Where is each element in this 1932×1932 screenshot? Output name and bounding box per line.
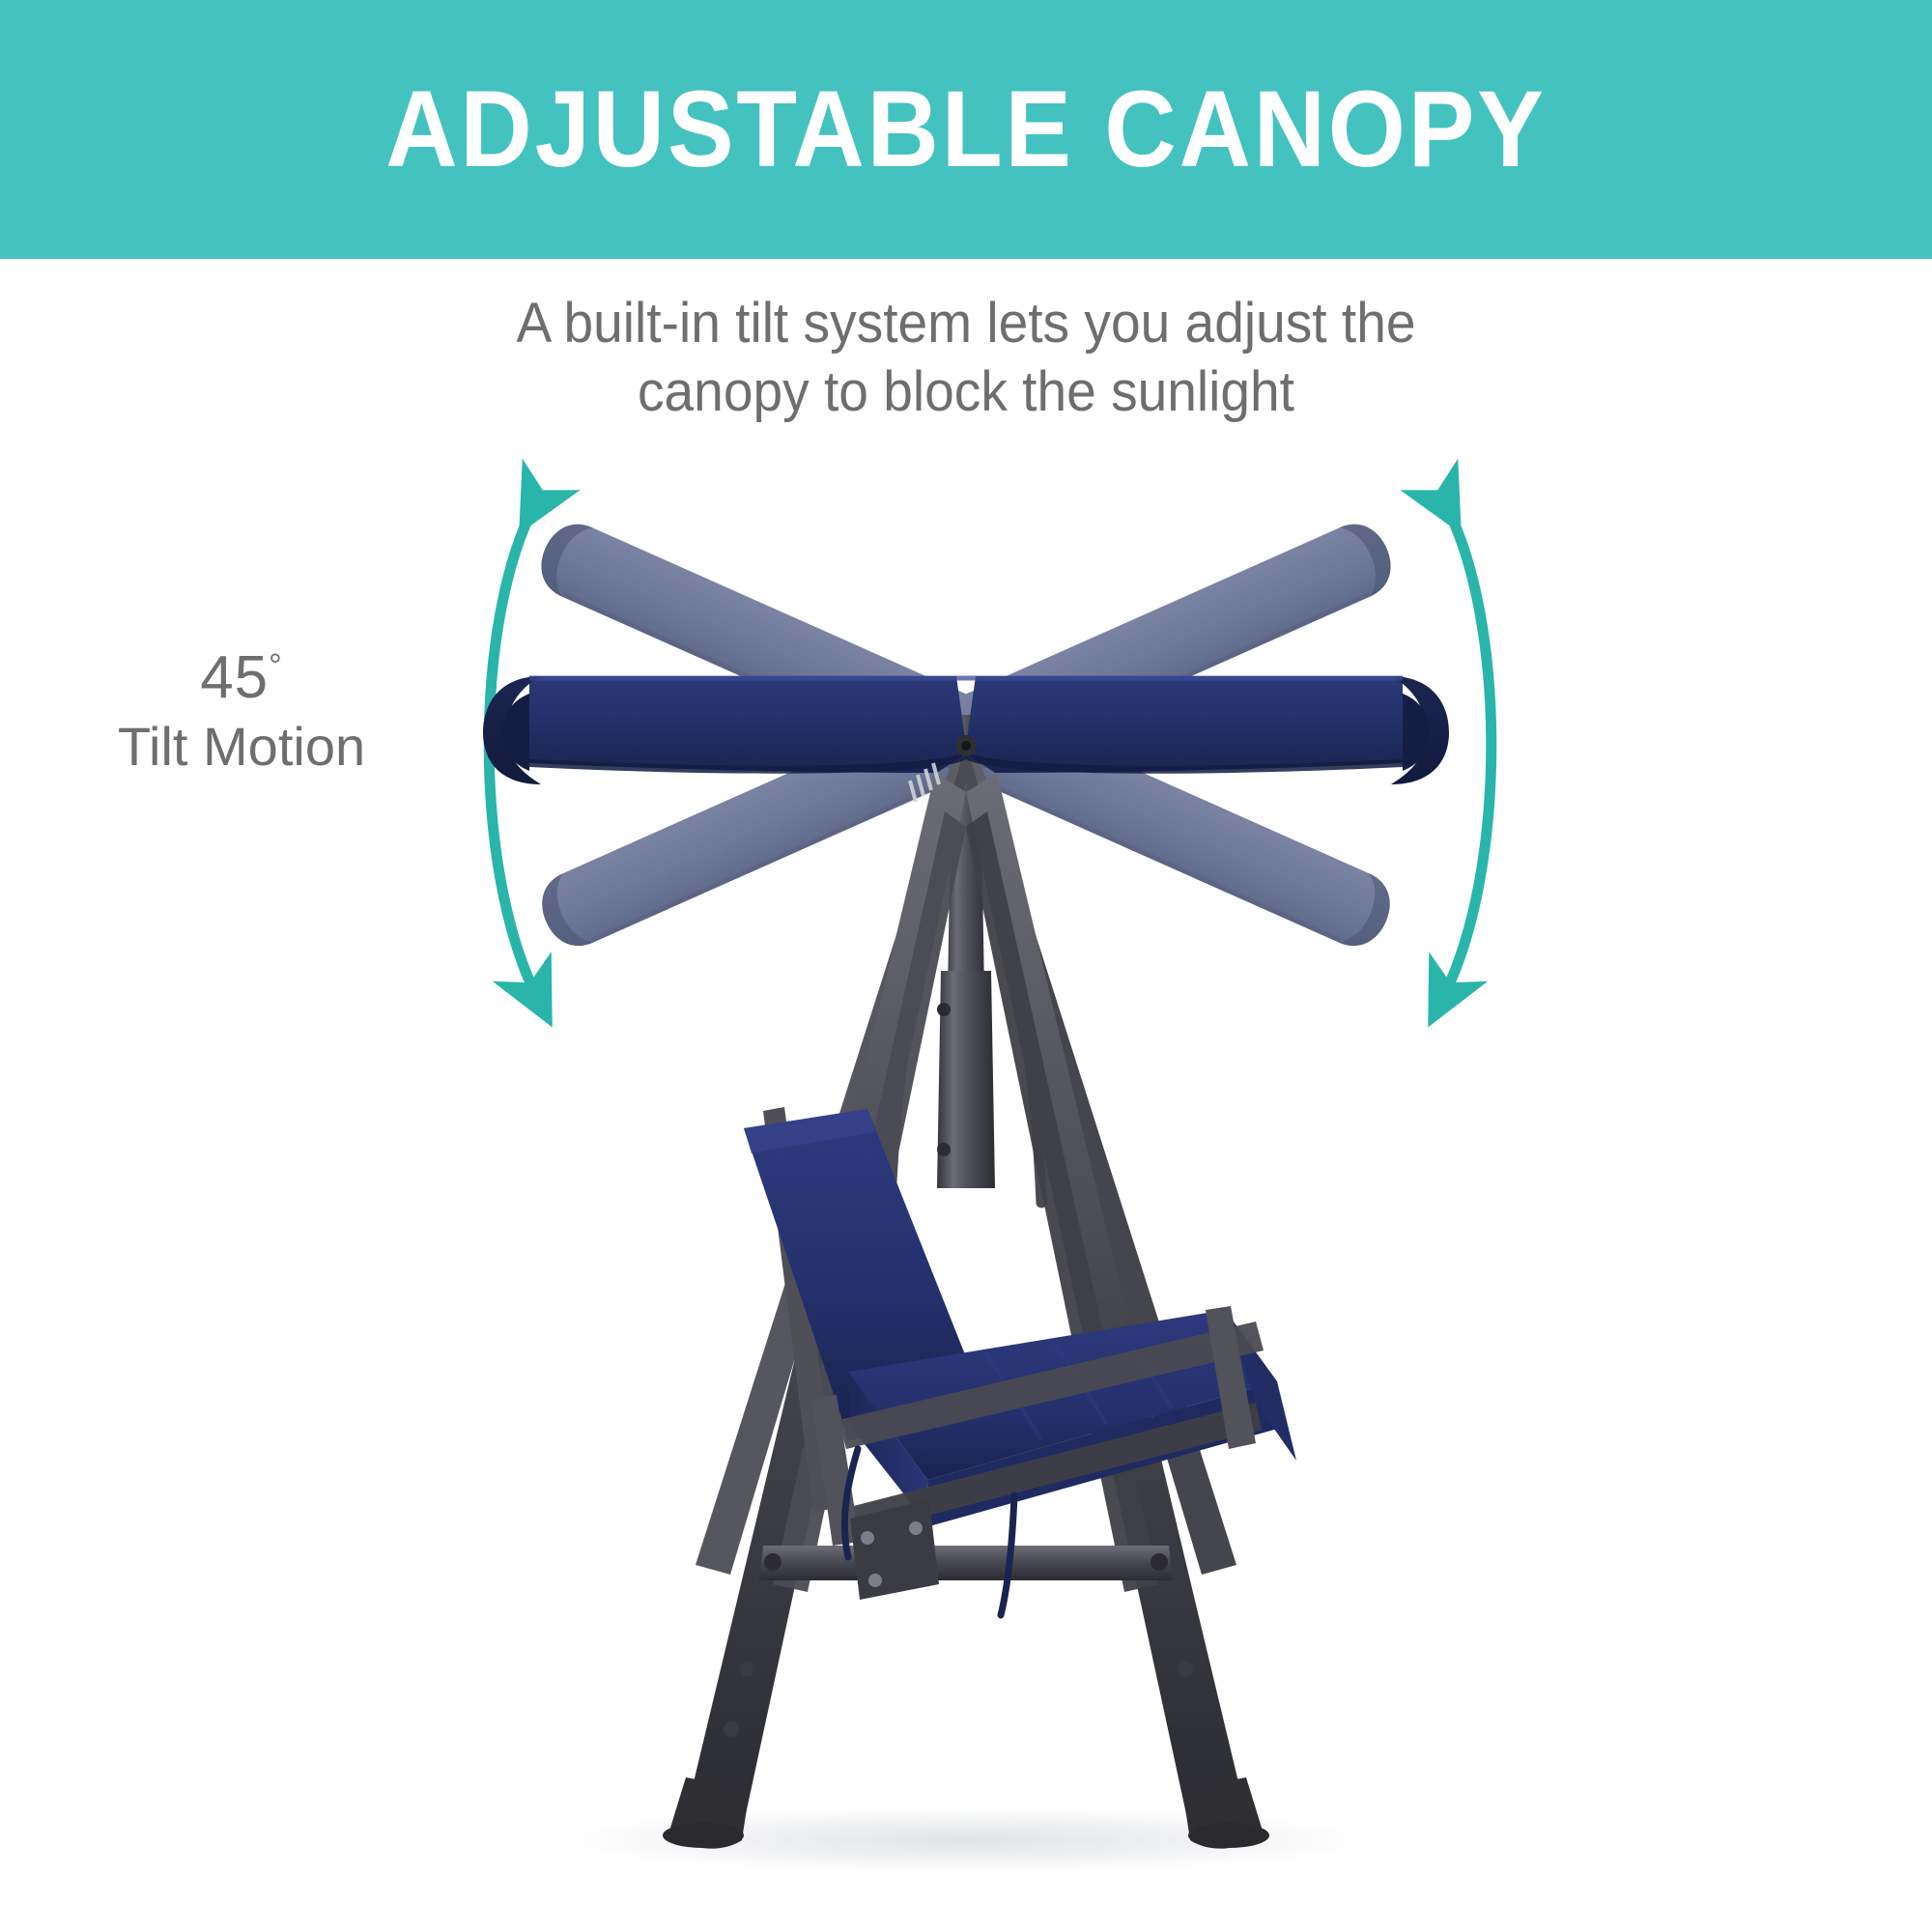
frame-bolt-lower — [937, 1143, 951, 1156]
frame-foot-left-pad — [663, 1823, 744, 1848]
frame-foot-right-pad — [1188, 1823, 1269, 1848]
arc-arrow-right-icon — [1444, 502, 1492, 995]
canopy-center-grommet-hole — [961, 741, 971, 751]
frame-crossbar-bolt-right — [1151, 1553, 1168, 1571]
seat-bracket-bolt-1 — [861, 1531, 874, 1545]
product-illustration — [0, 0, 1932, 1932]
seat-bracket-bolt-3 — [868, 1574, 882, 1587]
product-feature-image: ADJUSTABLE CANOPY A built-in tilt system… — [0, 0, 1932, 1932]
frame-bolt-upper — [937, 1003, 951, 1016]
frame-crossbar — [759, 1546, 1173, 1580]
frame-crossbar-bolt-left — [764, 1553, 781, 1571]
frame-rivet-left-1 — [739, 1662, 754, 1677]
frame-rivet-right-1 — [1178, 1662, 1193, 1677]
seat-bracket-bolt-2 — [909, 1521, 923, 1535]
frame-rivet-left-2 — [724, 1721, 739, 1737]
